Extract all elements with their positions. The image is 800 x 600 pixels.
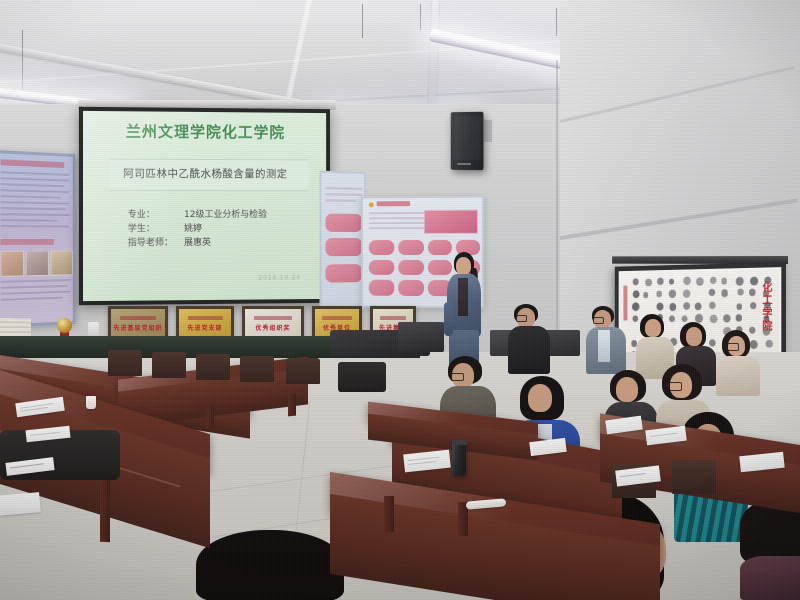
wall-poster-middle [319,171,366,314]
slide-detail-row: 专业： 12级工业分析与检验 [128,208,267,222]
speaker-label [457,163,470,165]
chair [152,352,186,378]
table-leg [100,470,110,543]
head [645,319,661,337]
slide-detail-key: 学生： [128,222,184,236]
table-leg [288,394,296,417]
light-hanger-wire [420,4,421,30]
table-leg [384,496,394,532]
slide-detail-rows: 专业： 12级工业分析与检验 学生： 姚婷 指导老师： 展惠英 [128,208,267,250]
back-equipment-box [398,322,444,352]
trophy [57,318,72,333]
glasses-icon [593,317,604,324]
slide-detail-key: 指导老师： [128,236,184,250]
torso [716,356,760,396]
poster-bullet-icon [369,202,374,207]
hair [196,530,344,600]
projector-screen: 兰州文理学院化工学院 阿司匹林中乙酰水杨酸含量的测定 专业： 12级工业分析与检… [79,107,330,305]
slide-org-title: 兰州文理学院化工学院 [83,120,326,143]
slide-detail-row: 指导老师： 展惠英 [128,236,267,251]
plaque-text: 先进基层党组织 [113,323,162,332]
classroom-photo-scene: 兰州文理学院化工学院 阿司匹林中乙酰水杨酸含量的测定 专业： 12级工业分析与检… [0,0,800,600]
light-hanger-wire [556,8,557,36]
glasses-icon [451,373,464,381]
slide-detail-value: 展惠英 [184,236,211,250]
thermos-cup [452,442,466,476]
left-wall-poster [0,150,75,328]
poster-photo [26,251,49,277]
glasses-icon [727,343,739,351]
chair [286,358,320,384]
torso [508,326,550,374]
slide-detail-value: 12级工业分析与检验 [184,208,267,222]
paper-sheet [0,492,41,516]
chair [672,460,716,494]
calligraphy-signature: 化工学院 [761,281,774,333]
torso [740,556,800,600]
presenter-inner-shirt [458,278,468,316]
audience-member [508,304,552,374]
speaker-grill [454,116,481,160]
head [528,384,552,412]
slide-detail-value: 姚婷 [184,222,202,236]
audience-member-foreground [740,500,800,600]
poster-banner-photo [424,210,478,234]
chair [108,350,142,376]
table-leg [206,404,214,429]
chair [240,356,274,382]
presenter-arm [444,302,453,336]
plaque-text: 先进党支部 [187,323,222,332]
poster-photo [51,250,73,275]
head [686,327,702,346]
audience-member [716,330,762,396]
poster-photo [0,251,24,277]
glasses-icon [668,382,682,391]
poster-heading-bar [0,159,64,168]
poster-heading-bar [377,201,410,206]
slide-detail-row: 学生： 姚婷 [128,222,267,236]
chair [338,362,386,392]
light-hanger-wire [362,4,363,38]
poster-heading-bar [0,239,54,245]
thermos-cap [452,440,467,445]
presenter [440,252,490,372]
audience-member [586,306,628,374]
audience-member-foreground [196,530,346,600]
paper-cup [86,396,96,409]
slide-date: 2014.10.24 [258,273,300,281]
wall-speaker [451,112,484,170]
head [616,377,638,402]
presentation-slide: 兰州文理学院化工学院 阿司匹林中乙酰水杨酸含量的测定 专业： 12级工业分析与检… [83,111,326,301]
speaker-bracket [484,120,492,142]
slide-topic: 阿司匹林中乙酰水杨酸含量的测定 [83,166,326,182]
light-hanger-wire [22,30,23,96]
calligraphy-characters [620,269,779,273]
glasses-icon [516,315,527,322]
chair [196,354,230,380]
plaque-text: 优秀组织奖 [255,323,290,332]
presenter-head [456,257,471,275]
slide-detail-key: 专业： [128,208,184,222]
inner-shirt [598,330,610,362]
